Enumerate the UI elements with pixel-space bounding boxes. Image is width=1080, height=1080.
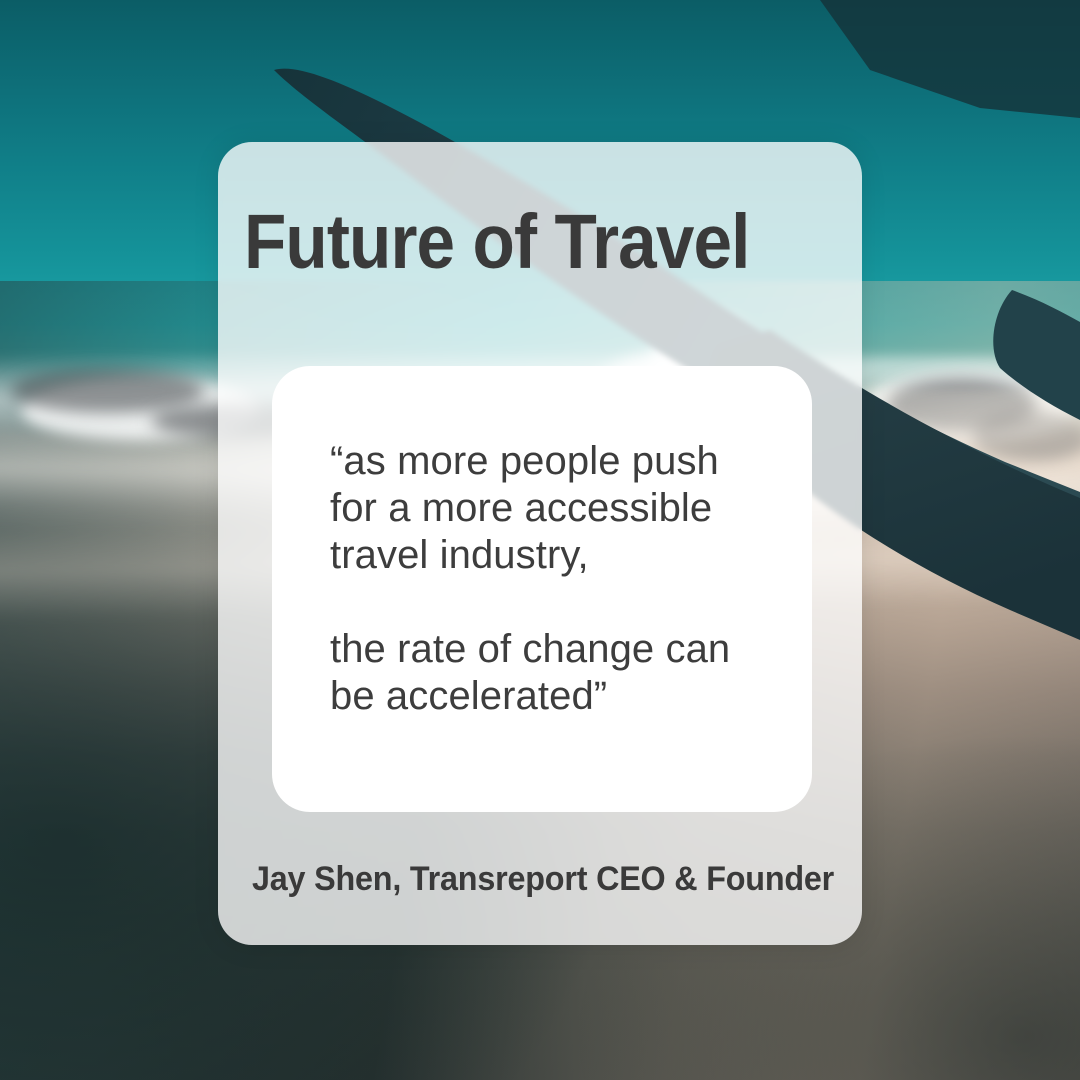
quote-card: Future of Travel “as more people push fo… [218,142,862,945]
social-quote-card-image: Future of Travel “as more people push fo… [0,0,1080,1080]
quote-line: for a more accessible [330,485,790,532]
quote-line: “as more people push [330,438,790,485]
quote-attribution: Jay Shen, Transreport CEO & Founder [252,860,834,899]
quote-panel: “as more people push for a more accessib… [272,366,812,812]
quote-text: “as more people push for a more accessib… [330,438,790,720]
quote-paragraph-gap [330,579,790,626]
quote-line: be accelerated” [330,673,790,720]
quote-line: travel industry, [330,532,790,579]
page-title: Future of Travel [244,204,749,281]
quote-line: the rate of change can [330,626,790,673]
